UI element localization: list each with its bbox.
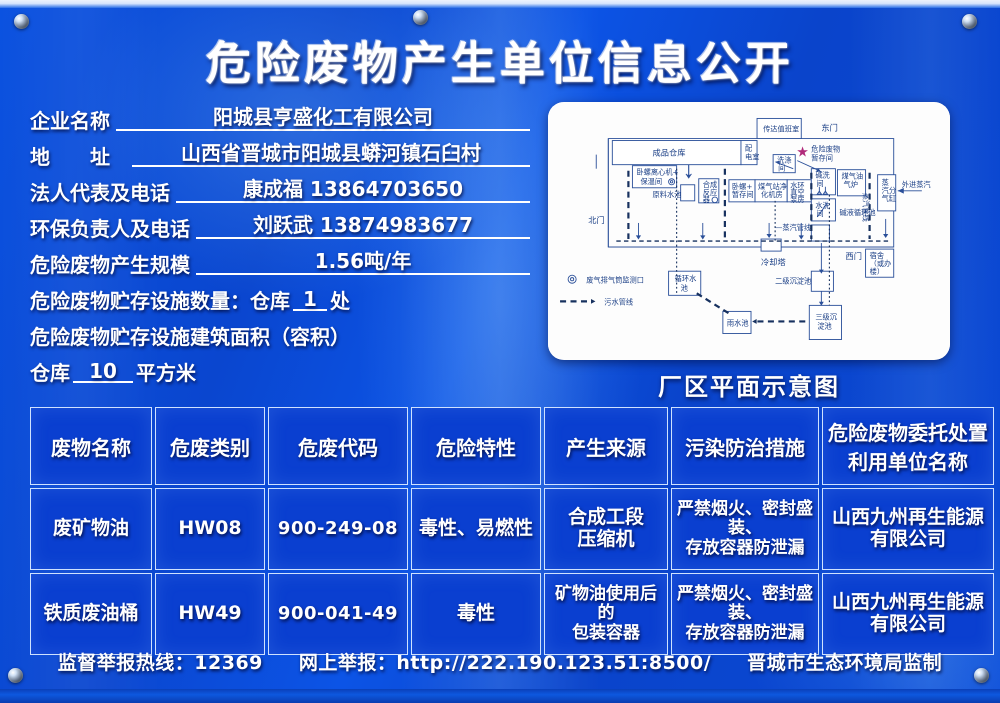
- info-row-company: 企业名称 阳城县亨盛化工有限公司: [30, 95, 530, 131]
- site-plan-caption: 厂区平面示意图: [548, 367, 950, 402]
- cell-source-1-line1: 合成工段: [547, 507, 665, 529]
- cell-disposal-unit-2-line2: 有限公司: [825, 614, 991, 636]
- info-row-address: 地 址 山西省晋城市阳城县蟒河镇石臼村: [30, 131, 530, 167]
- legend-label-monitor: 废气排气筒监测口: [586, 275, 644, 284]
- label-gasfurnace-line2: 气炉: [843, 180, 857, 189]
- cell-disposal-unit-1-line1: 山西九州再生能源: [825, 507, 991, 529]
- information-board: 危险废物产生单位信息公开 企业名称 阳城县亨盛化工有限公司 地 址 山西省晋城市…: [0, 0, 1000, 703]
- site-plan-svg: 传达值班室 东门 ★ 危险废物 暂存间 成品仓库 配 电室 卧螺离心机+ 保温间: [548, 102, 950, 360]
- info-label-address: 地 址: [30, 147, 126, 167]
- facility-count-value: 1: [293, 289, 327, 311]
- label-extra-room-line2: 暂存间: [732, 190, 754, 199]
- board-footer: 监督举报热线：12369 网上举报：http://222.190.123.51:…: [0, 648, 1000, 675]
- info-row-legal-rep: 法人代表及电话 康成福 13864703650: [30, 167, 530, 203]
- label-threetank-line1: 三级沉: [815, 312, 837, 321]
- facility-area-value: 10: [73, 361, 133, 383]
- info-label-env-officer: 环保负责人及电话: [30, 219, 190, 239]
- facility-count-label: 危险废物贮存设施数量：仓库: [30, 291, 290, 311]
- enterprise-info-block: 企业名称 阳城县亨盛化工有限公司 地 址 山西省晋城市阳城县蟒河镇石臼村 法人代…: [30, 95, 530, 383]
- cell-waste-name-2: 铁质废油桶: [30, 573, 152, 655]
- cell-source-2-line2: 包装容器: [547, 624, 665, 644]
- cell-source-2: 矿物油使用后的 包装容器: [544, 573, 668, 655]
- table-header-row: 废物名称 危废类别 危废代码 危险特性 产生来源 污染防治措施 危险废物委托处置…: [30, 407, 994, 485]
- info-value-scale: 1.56吨/年: [196, 251, 530, 275]
- col-header-disposal-unit-line2: 利用单位名称: [825, 446, 991, 475]
- info-label-scale: 危险废物产生规模: [30, 255, 190, 275]
- label-threetank-line2: 淀池: [817, 321, 831, 330]
- board-top-edge: [0, 0, 1000, 8]
- cell-measures-2: 严禁烟火、密封盛装、 存放容器防泄漏: [671, 573, 819, 655]
- cell-disposal-unit-2-line1: 山西九州再生能源: [825, 592, 991, 614]
- board-bottom-edge: [0, 689, 1000, 703]
- info-row-facility-area-label: 危险废物贮存设施建筑面积（容积）: [30, 311, 530, 347]
- cell-measures-1-line2: 存放容器防泄漏: [674, 539, 816, 559]
- cell-disposal-unit-2: 山西九州再生能源 有限公司: [822, 573, 994, 655]
- label-office-line3: 楼）: [870, 267, 884, 276]
- label-circ-line1: 循环水: [675, 274, 697, 283]
- page-title: 危险废物产生单位信息公开: [0, 27, 1000, 92]
- label-west-gate: 西门: [845, 251, 861, 261]
- label-product-warehouse: 成品仓库: [653, 148, 686, 158]
- site-plan-canvas: 传达值班室 东门 ★ 危险废物 暂存间 成品仓库 配 电室 卧螺离心机+ 保温间: [548, 102, 950, 360]
- col-header-source: 产生来源: [544, 407, 668, 485]
- cell-source-2-line1: 矿物油使用后的: [547, 585, 665, 624]
- info-row-scale: 危险废物产生规模 1.56吨/年: [30, 239, 530, 275]
- cell-measures-1-line1: 严禁烟火、密封盛装、: [674, 500, 816, 539]
- cell-waste-code-2: 900-041-49: [268, 573, 408, 655]
- hazard-star-marker: ★: [796, 145, 809, 161]
- info-label-legal-rep: 法人代表及电话: [30, 183, 170, 203]
- cell-waste-category-2: HW49: [155, 573, 265, 655]
- cell-hazard-trait-2: 毒性: [411, 573, 541, 655]
- cell-disposal-unit-1: 山西九州再生能源 有限公司: [822, 488, 994, 570]
- cell-measures-2-line2: 存放容器防泄漏: [674, 624, 816, 644]
- col-header-waste-category: 危废类别: [155, 407, 265, 485]
- table-row: 废矿物油 HW08 900-249-08 毒性、易燃性 合成工段 压缩机 严禁烟…: [30, 488, 994, 570]
- label-guard-room: 传达值班室: [763, 125, 799, 134]
- legend-label-sewer: 污水管线: [604, 297, 633, 306]
- label-north-gate: 北门: [588, 215, 604, 225]
- facility-area-unit: 平方米: [136, 363, 196, 383]
- site-plan-panel: 传达值班室 东门 ★ 危险废物 暂存间 成品仓库 配 电室 卧螺离心机+ 保温间: [548, 102, 950, 360]
- label-east-gate: 东门: [821, 123, 837, 133]
- footer-online-report: 网上举报：http://222.190.123.51:8500/: [299, 648, 711, 675]
- cell-measures-2-line1: 严禁烟火、密封盛装、: [674, 585, 816, 624]
- info-row-env-officer: 环保负责人及电话 刘跃武 13874983677: [30, 203, 530, 239]
- cell-waste-name-1: 废矿物油: [30, 488, 152, 570]
- label-power-room-a: 配: [745, 144, 752, 153]
- cell-waste-category-1: HW08: [155, 488, 265, 570]
- col-header-waste-name: 废物名称: [30, 407, 152, 485]
- info-row-facility-count: 危险废物贮存设施数量：仓库 1 处: [30, 275, 530, 311]
- info-value-env-officer: 刘跃武 13874983677: [196, 215, 530, 239]
- info-row-facility-area-value: 仓库 10 平方米: [30, 347, 530, 383]
- table-row: 铁质废油桶 HW49 900-041-49 毒性 矿物油使用后的 包装容器 严禁…: [30, 573, 994, 655]
- col-header-waste-code: 危废代码: [268, 407, 408, 485]
- footer-hotline: 监督举报热线：12369: [58, 648, 263, 675]
- col-header-disposal-unit-line1: 危险废物委托处置: [825, 417, 991, 446]
- label-centrifuge-line2: 保温间: [640, 177, 662, 186]
- label-outside-steam: 外进蒸汽: [902, 180, 931, 189]
- cell-source-1-line2: 压缩机: [547, 529, 665, 551]
- info-value-address: 山西省晋城市阳城县蟒河镇石臼村: [132, 143, 530, 167]
- label-vacuum-line3: 泵房: [790, 195, 804, 204]
- cell-hazard-trait-1: 毒性、易燃性: [411, 488, 541, 570]
- info-value-legal-rep: 康成福 13864703650: [176, 179, 530, 203]
- label-acid-line2: 间: [816, 179, 823, 188]
- label-hazard-store-line2: 暂存间: [811, 154, 833, 163]
- mounting-bolt-top-center: [413, 10, 428, 25]
- label-hazard-store-line1: 危险废物: [811, 145, 840, 154]
- cell-measures-1: 严禁烟火、密封盛装、 存放容器防泄漏: [671, 488, 819, 570]
- facility-area-prefix: 仓库: [30, 363, 70, 383]
- col-header-hazard-trait: 危险特性: [411, 407, 541, 485]
- label-centrifuge-line1: 卧螺离心机+: [636, 168, 678, 177]
- label-circ-line2: 池: [681, 283, 688, 292]
- label-boiler-line2: 化机房: [761, 190, 783, 199]
- col-header-disposal-unit: 危险废物委托处置 利用单位名称: [822, 407, 994, 485]
- label-power-room-b: 电室: [745, 153, 759, 162]
- info-label-company: 企业名称: [30, 111, 110, 131]
- label-rain-pond: 雨水池: [727, 318, 749, 327]
- col-header-measures: 污染防治措施: [671, 407, 819, 485]
- hazardous-waste-table: 废物名称 危废类别 危废代码 危险特性 产生来源 污染防治措施 危险废物委托处置…: [27, 404, 997, 658]
- footer-authority: 晋城市生态环境局监制: [747, 648, 942, 675]
- cell-disposal-unit-1-line2: 有限公司: [825, 529, 991, 551]
- label-steamdist-line3: 气缸: [882, 194, 896, 203]
- cell-waste-code-1: 900-249-08: [268, 488, 408, 570]
- label-steam-valve: —蒸汽管线: [775, 223, 811, 232]
- hazardous-waste-table-wrapper: 废物名称 危废类别 危废代码 危险特性 产生来源 污染防治措施 危险废物委托处置…: [27, 404, 973, 630]
- label-synth-line3: 器: [703, 195, 710, 204]
- cell-source-1: 合成工段 压缩机: [544, 488, 668, 570]
- label-second-settle: 二级沉淀池: [775, 276, 811, 285]
- facility-area-label: 危险废物贮存设施建筑面积（容积）: [30, 327, 350, 347]
- info-value-company: 阳城县亨盛化工有限公司: [116, 107, 530, 131]
- facility-count-unit: 处: [330, 291, 350, 311]
- label-cooling-tank: 冷却塔: [761, 257, 786, 267]
